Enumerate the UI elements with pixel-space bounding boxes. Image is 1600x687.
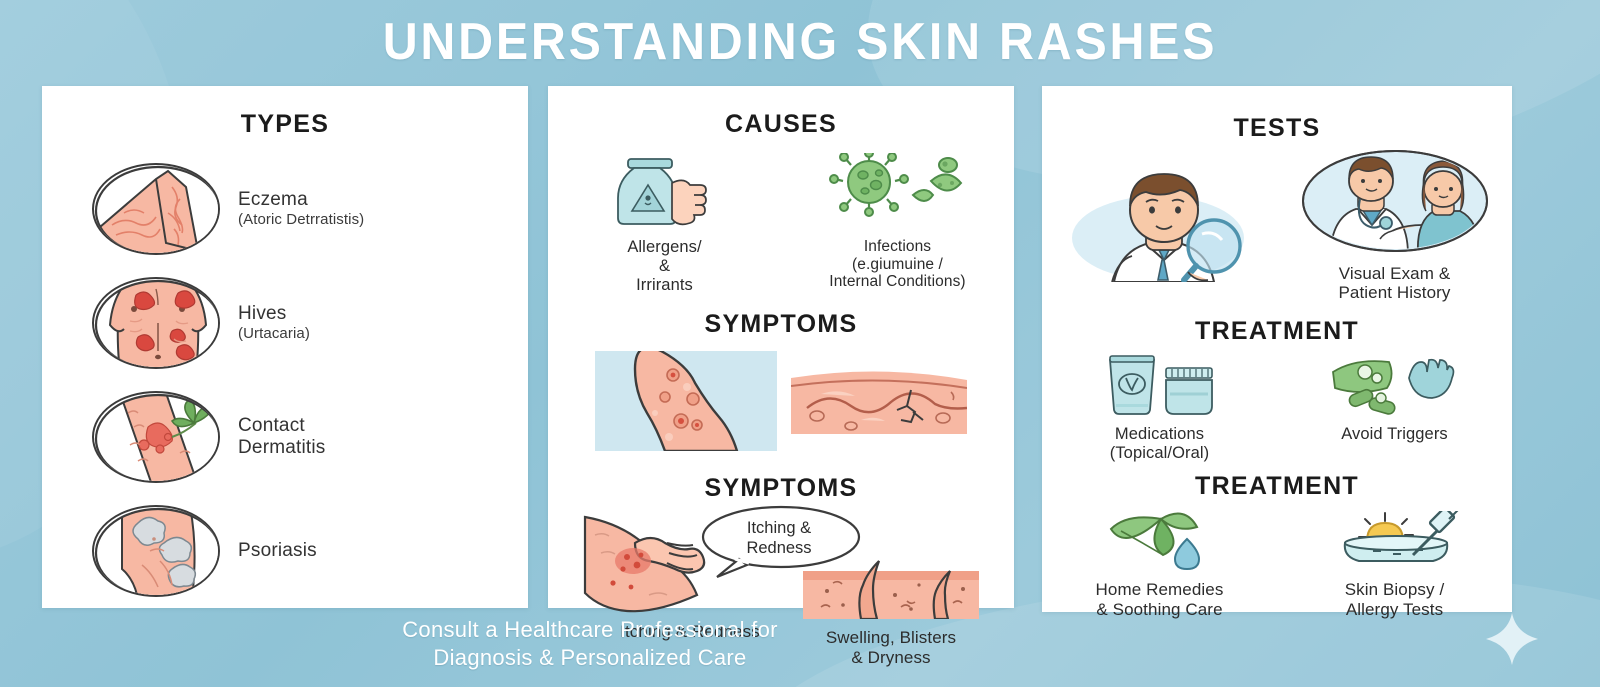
chemical-bottle-hand-icon bbox=[606, 153, 724, 229]
causes-symptoms-panel: CAUSES Allergens/ & Irrirants bbox=[548, 86, 1014, 608]
type-name: Contact bbox=[238, 415, 326, 437]
type-row-hives: Hives (Urtacaria) bbox=[42, 277, 528, 369]
petri-dish-syringe-icon bbox=[1329, 511, 1461, 571]
type-row-contact-dermatitis: Contact Dermatitis bbox=[42, 391, 528, 483]
leaf-water-drop-icon bbox=[1099, 511, 1221, 571]
treatment-caption: Skin Biopsy / Allergy Tests bbox=[1290, 580, 1500, 619]
symptoms-images-1 bbox=[548, 351, 1014, 456]
treatment-caption: Home Remedies & Soothing Care bbox=[1055, 580, 1265, 619]
treatment-item-skin-biopsy: Skin Biopsy / Allergy Tests bbox=[1290, 511, 1500, 619]
treatment-heading-2: TREATMENT bbox=[1042, 472, 1512, 501]
test-item-visual-exam: Visual Exam & Patient History bbox=[1285, 149, 1505, 303]
type-name: Hives bbox=[238, 303, 310, 325]
causes-heading: CAUSES bbox=[548, 110, 1014, 139]
type-label-hives: Hives (Urtacaria) bbox=[238, 303, 310, 343]
footer-message: Consult a Healthcare Professional for Di… bbox=[0, 616, 1180, 672]
hives-torso-circle-icon bbox=[92, 277, 220, 369]
cause-caption: Allergens/ & Irrirants bbox=[560, 238, 770, 294]
tests-items: Visual Exam & Patient History bbox=[1042, 149, 1512, 303]
contact-dermatitis-leaf-circle-icon bbox=[92, 391, 220, 483]
infographic-poster: UNDERSTANDING SKIN RASHES TYPES bbox=[0, 0, 1600, 687]
speech-bubble-text: Itching & Redness bbox=[695, 519, 863, 557]
type-label-contact-dermatitis: Contact Dermatitis bbox=[238, 415, 326, 460]
psoriasis-plaque-circle-icon bbox=[92, 505, 220, 597]
test-item-doctor bbox=[1050, 164, 1270, 287]
arm-with-bumps-image bbox=[595, 351, 777, 456]
treatment-heading-1: TREATMENT bbox=[1042, 317, 1512, 346]
symptoms-heading-2: SYMPTOMS bbox=[548, 474, 1014, 503]
causes-items: Allergens/ & Irrirants bbox=[548, 153, 1014, 294]
eczema-arm-circle-icon bbox=[92, 163, 220, 255]
type-sub: Dermatitis bbox=[238, 437, 326, 459]
type-label-psoriasis: Psoriasis bbox=[238, 540, 317, 562]
symptoms-heading-1: SYMPTOMS bbox=[548, 310, 1014, 339]
treatment-item-avoid-triggers: Avoid Triggers bbox=[1290, 354, 1500, 444]
doctor-magnifier-icon bbox=[1062, 164, 1258, 282]
cause-caption: Infections (e.giumuine / Internal Condit… bbox=[793, 238, 1003, 291]
tests-heading: TESTS bbox=[1042, 114, 1512, 143]
treatment-items-1: Medications (Topical/Oral) bbox=[1042, 354, 1512, 463]
treatment-item-home-remedies: Home Remedies & Soothing Care bbox=[1055, 511, 1265, 619]
virus-bacteria-icon bbox=[823, 153, 973, 229]
tests-treatment-panel: TESTS bbox=[1042, 86, 1512, 612]
page-title: UNDERSTANDING SKIN RASHES bbox=[56, 12, 1544, 72]
type-row-psoriasis: Psoriasis bbox=[42, 505, 528, 597]
sparkle-star-icon bbox=[1486, 613, 1538, 665]
treatment-caption: Medications (Topical/Oral) bbox=[1055, 425, 1265, 463]
cream-tube-jar-icon bbox=[1096, 354, 1224, 416]
type-name: Eczema bbox=[238, 189, 364, 211]
type-sub: (Urtacaria) bbox=[238, 325, 310, 343]
types-heading: TYPES bbox=[42, 110, 528, 139]
footer-line-1: Consult a Healthcare Professional for bbox=[0, 616, 1180, 644]
types-panel: TYPES bbox=[42, 86, 528, 608]
type-name: Psoriasis bbox=[238, 540, 317, 562]
treatment-item-medications: Medications (Topical/Oral) bbox=[1055, 354, 1265, 463]
cause-item-infections: Infections (e.giumuine / Internal Condit… bbox=[793, 153, 1003, 291]
type-label-eczema: Eczema (Atoric Detrratistis) bbox=[238, 189, 364, 229]
type-row-eczema: Eczema (Atoric Detrratistis) bbox=[42, 163, 528, 255]
treatment-caption: Avoid Triggers bbox=[1290, 425, 1500, 444]
doctor-examining-patient-icon bbox=[1300, 149, 1490, 255]
test-caption: Visual Exam & Patient History bbox=[1285, 264, 1505, 303]
skin-cross-section-crack-image bbox=[791, 368, 967, 439]
type-sub: (Atoric Detrratistis) bbox=[238, 211, 364, 229]
soap-gloves-pills-icon bbox=[1329, 354, 1461, 416]
footer-line-2: Diagnosis & Personalized Care bbox=[0, 644, 1180, 672]
cause-item-allergens: Allergens/ & Irrirants bbox=[560, 153, 770, 294]
treatment-items-2: Home Remedies & Soothing Care bbox=[1042, 511, 1512, 619]
